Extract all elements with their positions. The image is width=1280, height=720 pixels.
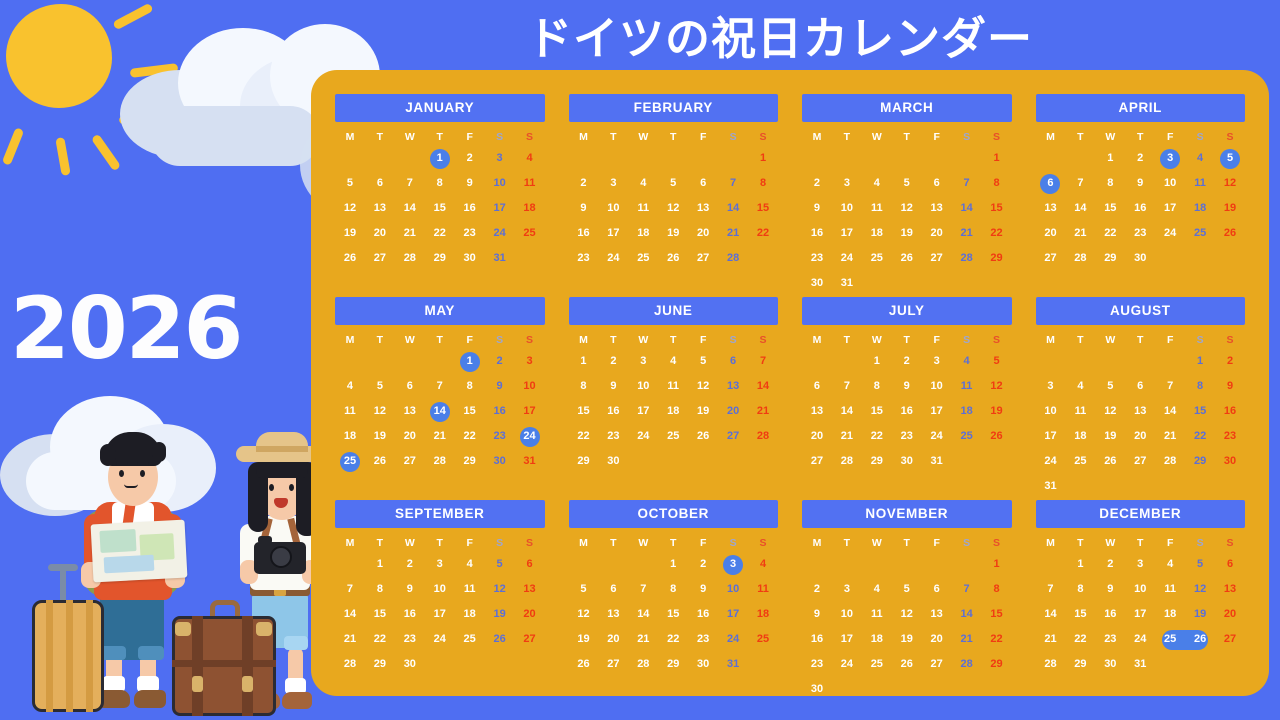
day-cell[interactable]: 3 (832, 174, 862, 193)
day-cell-holiday[interactable]: 1 (425, 149, 455, 168)
day-cell[interactable]: 4 (952, 352, 982, 371)
day-cell[interactable]: 22 (425, 224, 455, 243)
day-cell[interactable]: 20 (515, 605, 545, 624)
day-cell[interactable]: 20 (1125, 427, 1155, 446)
day-cell[interactable]: 6 (395, 377, 425, 396)
day-cell[interactable]: 12 (335, 199, 365, 218)
day-cell[interactable]: 21 (1065, 224, 1095, 243)
day-cell[interactable]: 15 (862, 402, 892, 421)
day-cell[interactable]: 6 (922, 580, 952, 599)
day-cell[interactable]: 9 (802, 605, 832, 624)
day-cell[interactable]: 7 (335, 580, 365, 599)
day-cell[interactable]: 5 (485, 555, 515, 574)
day-cell[interactable]: 25 (628, 249, 658, 268)
day-cell[interactable]: 15 (365, 605, 395, 624)
day-cell[interactable]: 22 (658, 630, 688, 649)
day-cell[interactable]: 21 (425, 427, 455, 446)
day-cell[interactable]: 23 (455, 224, 485, 243)
day-cell[interactable]: 25 (862, 655, 892, 674)
month-title[interactable]: JANUARY (335, 94, 545, 122)
month-title[interactable]: OCTOBER (569, 500, 779, 528)
day-cell-holiday[interactable]: 26 (1185, 630, 1215, 649)
day-cell[interactable]: 8 (425, 174, 455, 193)
day-cell[interactable]: 31 (515, 452, 545, 471)
day-cell[interactable]: 23 (892, 427, 922, 446)
day-cell[interactable]: 6 (515, 555, 545, 574)
day-cell[interactable]: 22 (748, 224, 778, 243)
day-cell[interactable]: 5 (658, 174, 688, 193)
day-cell[interactable]: 24 (718, 630, 748, 649)
day-cell[interactable]: 26 (569, 655, 599, 674)
day-cell[interactable]: 28 (1036, 655, 1066, 674)
day-cell[interactable]: 31 (718, 655, 748, 674)
month-title[interactable]: MAY (335, 297, 545, 325)
month-title[interactable]: JULY (802, 297, 1012, 325)
day-cell-holiday[interactable]: 3 (1155, 149, 1185, 168)
day-cell[interactable]: 25 (1185, 224, 1215, 243)
day-cell[interactable]: 25 (455, 630, 485, 649)
day-cell[interactable]: 14 (748, 377, 778, 396)
day-cell[interactable]: 19 (569, 630, 599, 649)
day-cell[interactable]: 29 (658, 655, 688, 674)
day-cell[interactable]: 24 (598, 249, 628, 268)
day-cell[interactable]: 22 (365, 630, 395, 649)
day-cell[interactable]: 13 (802, 402, 832, 421)
day-cell[interactable]: 30 (1125, 249, 1155, 268)
day-cell[interactable]: 24 (1036, 452, 1066, 471)
day-cell[interactable]: 21 (952, 224, 982, 243)
day-cell[interactable]: 30 (1215, 452, 1245, 471)
day-cell[interactable]: 15 (982, 605, 1012, 624)
day-cell[interactable]: 6 (688, 174, 718, 193)
day-cell[interactable]: 12 (365, 402, 395, 421)
day-cell[interactable]: 27 (718, 427, 748, 446)
day-cell[interactable]: 12 (569, 605, 599, 624)
day-cell[interactable]: 4 (515, 149, 545, 168)
day-cell[interactable]: 31 (832, 274, 862, 293)
day-cell-holiday[interactable]: 6 (1036, 174, 1066, 193)
day-cell[interactable]: 12 (892, 199, 922, 218)
day-cell[interactable]: 29 (1185, 452, 1215, 471)
day-cell[interactable]: 18 (455, 605, 485, 624)
day-cell-holiday[interactable]: 24 (515, 427, 545, 446)
day-cell[interactable]: 13 (1215, 580, 1245, 599)
day-cell[interactable]: 5 (569, 580, 599, 599)
day-cell[interactable]: 5 (982, 352, 1012, 371)
day-cell[interactable]: 18 (628, 224, 658, 243)
day-cell[interactable]: 17 (1155, 199, 1185, 218)
day-cell[interactable]: 23 (802, 655, 832, 674)
day-cell[interactable]: 3 (485, 149, 515, 168)
day-cell[interactable]: 4 (658, 352, 688, 371)
month-title[interactable]: SEPTEMBER (335, 500, 545, 528)
day-cell[interactable]: 21 (832, 427, 862, 446)
day-cell[interactable]: 20 (802, 427, 832, 446)
day-cell[interactable]: 26 (1215, 224, 1245, 243)
day-cell[interactable]: 23 (688, 630, 718, 649)
day-cell[interactable]: 15 (1095, 199, 1125, 218)
day-cell[interactable]: 7 (832, 377, 862, 396)
day-cell[interactable]: 1 (1095, 149, 1125, 168)
day-cell[interactable]: 7 (952, 580, 982, 599)
day-cell[interactable]: 18 (862, 630, 892, 649)
day-cell[interactable]: 13 (718, 377, 748, 396)
day-cell[interactable]: 10 (922, 377, 952, 396)
day-cell[interactable]: 16 (802, 224, 832, 243)
day-cell[interactable]: 20 (718, 402, 748, 421)
day-cell[interactable]: 21 (628, 630, 658, 649)
day-cell[interactable]: 24 (425, 630, 455, 649)
day-cell[interactable]: 6 (598, 580, 628, 599)
day-cell[interactable]: 31 (1036, 477, 1066, 496)
day-cell[interactable]: 13 (1036, 199, 1066, 218)
day-cell[interactable]: 14 (1155, 402, 1185, 421)
day-cell[interactable]: 16 (455, 199, 485, 218)
day-cell[interactable]: 6 (922, 174, 952, 193)
day-cell[interactable]: 7 (395, 174, 425, 193)
day-cell[interactable]: 18 (335, 427, 365, 446)
day-cell[interactable]: 11 (952, 377, 982, 396)
day-cell[interactable]: 22 (569, 427, 599, 446)
day-cell[interactable]: 4 (1185, 149, 1215, 168)
day-cell[interactable]: 26 (892, 655, 922, 674)
month-title[interactable]: MARCH (802, 94, 1012, 122)
day-cell[interactable]: 3 (1036, 377, 1066, 396)
day-cell[interactable]: 1 (748, 149, 778, 168)
day-cell[interactable]: 20 (922, 630, 952, 649)
day-cell[interactable]: 28 (748, 427, 778, 446)
day-cell[interactable]: 12 (1095, 402, 1125, 421)
day-cell[interactable]: 26 (688, 427, 718, 446)
day-cell[interactable]: 29 (365, 655, 395, 674)
day-cell[interactable]: 21 (1155, 427, 1185, 446)
day-cell[interactable]: 9 (802, 199, 832, 218)
day-cell[interactable]: 2 (455, 149, 485, 168)
day-cell[interactable]: 10 (1155, 174, 1185, 193)
day-cell[interactable]: 15 (569, 402, 599, 421)
day-cell[interactable]: 29 (425, 249, 455, 268)
day-cell[interactable]: 15 (748, 199, 778, 218)
day-cell[interactable]: 4 (862, 580, 892, 599)
month-title[interactable]: DECEMBER (1036, 500, 1246, 528)
day-cell[interactable]: 29 (569, 452, 599, 471)
day-cell[interactable]: 5 (1185, 555, 1215, 574)
day-cell[interactable]: 27 (688, 249, 718, 268)
day-cell[interactable]: 12 (1185, 580, 1215, 599)
day-cell[interactable]: 3 (515, 352, 545, 371)
day-cell[interactable]: 2 (1125, 149, 1155, 168)
day-cell[interactable]: 10 (1125, 580, 1155, 599)
day-cell[interactable]: 11 (862, 199, 892, 218)
day-cell[interactable]: 27 (922, 655, 952, 674)
day-cell[interactable]: 21 (718, 224, 748, 243)
day-cell[interactable]: 8 (569, 377, 599, 396)
day-cell[interactable]: 10 (832, 605, 862, 624)
day-cell[interactable]: 29 (982, 655, 1012, 674)
day-cell[interactable]: 13 (395, 402, 425, 421)
day-cell[interactable]: 30 (892, 452, 922, 471)
day-cell[interactable]: 11 (862, 605, 892, 624)
day-cell[interactable]: 17 (628, 402, 658, 421)
month-title[interactable]: JUNE (569, 297, 779, 325)
day-cell[interactable]: 11 (628, 199, 658, 218)
day-cell[interactable]: 2 (688, 555, 718, 574)
day-cell[interactable]: 21 (395, 224, 425, 243)
day-cell[interactable]: 14 (1036, 605, 1066, 624)
day-cell[interactable]: 21 (1036, 630, 1066, 649)
day-cell[interactable]: 20 (1215, 605, 1245, 624)
month-title[interactable]: NOVEMBER (802, 500, 1012, 528)
day-cell[interactable]: 2 (569, 174, 599, 193)
day-cell[interactable]: 3 (628, 352, 658, 371)
day-cell[interactable]: 27 (395, 452, 425, 471)
day-cell[interactable]: 22 (982, 224, 1012, 243)
day-cell[interactable]: 25 (862, 249, 892, 268)
day-cell[interactable]: 10 (515, 377, 545, 396)
day-cell[interactable]: 8 (365, 580, 395, 599)
day-cell[interactable]: 5 (892, 174, 922, 193)
day-cell[interactable]: 2 (1095, 555, 1125, 574)
day-cell[interactable]: 9 (455, 174, 485, 193)
day-cell[interactable]: 1 (1065, 555, 1095, 574)
day-cell[interactable]: 23 (802, 249, 832, 268)
day-cell[interactable]: 17 (425, 605, 455, 624)
day-cell[interactable]: 14 (832, 402, 862, 421)
day-cell[interactable]: 27 (598, 655, 628, 674)
day-cell[interactable]: 17 (922, 402, 952, 421)
day-cell[interactable]: 4 (455, 555, 485, 574)
day-cell[interactable]: 23 (1215, 427, 1245, 446)
day-cell[interactable]: 26 (892, 249, 922, 268)
day-cell[interactable]: 14 (718, 199, 748, 218)
day-cell[interactable]: 19 (365, 427, 395, 446)
day-cell[interactable]: 17 (598, 224, 628, 243)
day-cell[interactable]: 17 (832, 630, 862, 649)
day-cell[interactable]: 9 (569, 199, 599, 218)
day-cell-holiday[interactable]: 1 (455, 352, 485, 371)
day-cell[interactable]: 18 (1185, 199, 1215, 218)
day-cell[interactable]: 13 (365, 199, 395, 218)
day-cell[interactable]: 18 (748, 605, 778, 624)
day-cell[interactable]: 19 (1185, 605, 1215, 624)
day-cell[interactable]: 29 (1095, 249, 1125, 268)
day-cell[interactable]: 24 (1125, 630, 1155, 649)
day-cell[interactable]: 26 (365, 452, 395, 471)
day-cell[interactable]: 7 (748, 352, 778, 371)
day-cell[interactable]: 30 (598, 452, 628, 471)
month-title[interactable]: APRIL (1036, 94, 1246, 122)
day-cell[interactable]: 1 (1185, 352, 1215, 371)
day-cell[interactable]: 24 (1155, 224, 1185, 243)
day-cell[interactable]: 17 (718, 605, 748, 624)
day-cell[interactable]: 23 (598, 427, 628, 446)
day-cell[interactable]: 16 (485, 402, 515, 421)
day-cell[interactable]: 2 (802, 174, 832, 193)
day-cell[interactable]: 8 (1065, 580, 1095, 599)
day-cell[interactable]: 27 (1215, 630, 1245, 649)
day-cell[interactable]: 11 (1065, 402, 1095, 421)
day-cell[interactable]: 17 (485, 199, 515, 218)
day-cell[interactable]: 9 (598, 377, 628, 396)
day-cell[interactable]: 29 (862, 452, 892, 471)
day-cell[interactable]: 16 (802, 630, 832, 649)
day-cell[interactable]: 8 (658, 580, 688, 599)
day-cell[interactable]: 6 (802, 377, 832, 396)
day-cell[interactable]: 1 (658, 555, 688, 574)
day-cell[interactable]: 9 (395, 580, 425, 599)
day-cell[interactable]: 19 (1095, 427, 1125, 446)
day-cell[interactable]: 20 (598, 630, 628, 649)
day-cell[interactable]: 10 (832, 199, 862, 218)
day-cell[interactable]: 9 (1215, 377, 1245, 396)
day-cell[interactable]: 15 (455, 402, 485, 421)
day-cell[interactable]: 28 (1155, 452, 1185, 471)
day-cell[interactable]: 4 (628, 174, 658, 193)
day-cell[interactable]: 28 (718, 249, 748, 268)
day-cell[interactable]: 29 (455, 452, 485, 471)
day-cell[interactable]: 16 (892, 402, 922, 421)
day-cell[interactable]: 17 (1125, 605, 1155, 624)
day-cell[interactable]: 20 (365, 224, 395, 243)
day-cell[interactable]: 4 (335, 377, 365, 396)
day-cell[interactable]: 30 (485, 452, 515, 471)
day-cell[interactable]: 26 (982, 427, 1012, 446)
day-cell[interactable]: 12 (892, 605, 922, 624)
day-cell[interactable]: 28 (628, 655, 658, 674)
day-cell-holiday[interactable]: 5 (1215, 149, 1245, 168)
day-cell[interactable]: 21 (335, 630, 365, 649)
day-cell[interactable]: 22 (1185, 427, 1215, 446)
day-cell[interactable]: 11 (1185, 174, 1215, 193)
day-cell[interactable]: 16 (1215, 402, 1245, 421)
day-cell[interactable]: 30 (802, 274, 832, 293)
day-cell[interactable]: 3 (598, 174, 628, 193)
day-cell[interactable]: 2 (1215, 352, 1245, 371)
day-cell[interactable]: 8 (982, 580, 1012, 599)
day-cell[interactable]: 26 (485, 630, 515, 649)
day-cell[interactable]: 28 (395, 249, 425, 268)
day-cell[interactable]: 24 (485, 224, 515, 243)
day-cell[interactable]: 19 (1215, 199, 1245, 218)
day-cell[interactable]: 10 (628, 377, 658, 396)
day-cell[interactable]: 3 (1125, 555, 1155, 574)
day-cell[interactable]: 19 (658, 224, 688, 243)
day-cell[interactable]: 2 (802, 580, 832, 599)
day-cell[interactable]: 27 (922, 249, 952, 268)
day-cell[interactable]: 28 (425, 452, 455, 471)
day-cell[interactable]: 15 (982, 199, 1012, 218)
day-cell[interactable]: 27 (802, 452, 832, 471)
day-cell[interactable]: 6 (1125, 377, 1155, 396)
day-cell[interactable]: 24 (628, 427, 658, 446)
day-cell[interactable]: 16 (688, 605, 718, 624)
day-cell[interactable]: 19 (892, 224, 922, 243)
day-cell[interactable]: 19 (892, 630, 922, 649)
day-cell[interactable]: 4 (1155, 555, 1185, 574)
day-cell[interactable]: 11 (515, 174, 545, 193)
day-cell[interactable]: 15 (1065, 605, 1095, 624)
day-cell[interactable]: 1 (365, 555, 395, 574)
day-cell[interactable]: 25 (1065, 452, 1095, 471)
day-cell[interactable]: 4 (1065, 377, 1095, 396)
day-cell[interactable]: 18 (952, 402, 982, 421)
day-cell[interactable]: 5 (1095, 377, 1125, 396)
day-cell[interactable]: 10 (718, 580, 748, 599)
day-cell[interactable]: 28 (1065, 249, 1095, 268)
day-cell[interactable]: 22 (862, 427, 892, 446)
day-cell[interactable]: 27 (1125, 452, 1155, 471)
day-cell[interactable]: 19 (485, 605, 515, 624)
day-cell[interactable]: 5 (892, 580, 922, 599)
day-cell[interactable]: 27 (1036, 249, 1066, 268)
day-cell[interactable]: 20 (922, 224, 952, 243)
day-cell[interactable]: 7 (628, 580, 658, 599)
day-cell[interactable]: 22 (455, 427, 485, 446)
day-cell[interactable]: 30 (395, 655, 425, 674)
day-cell[interactable]: 13 (688, 199, 718, 218)
day-cell[interactable]: 28 (952, 655, 982, 674)
day-cell[interactable]: 14 (952, 605, 982, 624)
day-cell[interactable]: 29 (982, 249, 1012, 268)
day-cell[interactable]: 15 (658, 605, 688, 624)
day-cell[interactable]: 19 (982, 402, 1012, 421)
day-cell[interactable]: 28 (335, 655, 365, 674)
day-cell[interactable]: 1 (862, 352, 892, 371)
day-cell[interactable]: 28 (832, 452, 862, 471)
day-cell[interactable]: 8 (1185, 377, 1215, 396)
day-cell[interactable]: 10 (598, 199, 628, 218)
day-cell[interactable]: 18 (658, 402, 688, 421)
day-cell[interactable]: 26 (658, 249, 688, 268)
day-cell[interactable]: 27 (515, 630, 545, 649)
day-cell[interactable]: 11 (658, 377, 688, 396)
day-cell[interactable]: 12 (485, 580, 515, 599)
day-cell[interactable]: 6 (1215, 555, 1245, 574)
day-cell[interactable]: 7 (1065, 174, 1095, 193)
day-cell[interactable]: 12 (658, 199, 688, 218)
day-cell[interactable]: 22 (982, 630, 1012, 649)
day-cell[interactable]: 26 (335, 249, 365, 268)
day-cell[interactable]: 7 (718, 174, 748, 193)
day-cell[interactable]: 20 (688, 224, 718, 243)
day-cell[interactable]: 7 (952, 174, 982, 193)
day-cell[interactable]: 30 (1095, 655, 1125, 674)
day-cell[interactable]: 8 (455, 377, 485, 396)
day-cell[interactable]: 15 (425, 199, 455, 218)
day-cell[interactable]: 15 (1185, 402, 1215, 421)
day-cell[interactable]: 1 (982, 149, 1012, 168)
day-cell[interactable]: 11 (748, 580, 778, 599)
day-cell[interactable]: 30 (455, 249, 485, 268)
day-cell[interactable]: 8 (982, 174, 1012, 193)
day-cell[interactable]: 14 (395, 199, 425, 218)
day-cell[interactable]: 3 (922, 352, 952, 371)
day-cell[interactable]: 6 (365, 174, 395, 193)
day-cell[interactable]: 18 (515, 199, 545, 218)
day-cell[interactable]: 14 (952, 199, 982, 218)
day-cell[interactable]: 24 (832, 655, 862, 674)
day-cell-holiday[interactable]: 14 (425, 402, 455, 421)
day-cell[interactable]: 28 (952, 249, 982, 268)
day-cell[interactable]: 9 (688, 580, 718, 599)
day-cell[interactable]: 2 (395, 555, 425, 574)
day-cell[interactable]: 23 (1095, 630, 1125, 649)
day-cell[interactable]: 9 (1125, 174, 1155, 193)
day-cell[interactable]: 17 (1036, 427, 1066, 446)
day-cell-holiday[interactable]: 25 (335, 452, 365, 471)
day-cell[interactable]: 31 (922, 452, 952, 471)
day-cell[interactable]: 2 (892, 352, 922, 371)
